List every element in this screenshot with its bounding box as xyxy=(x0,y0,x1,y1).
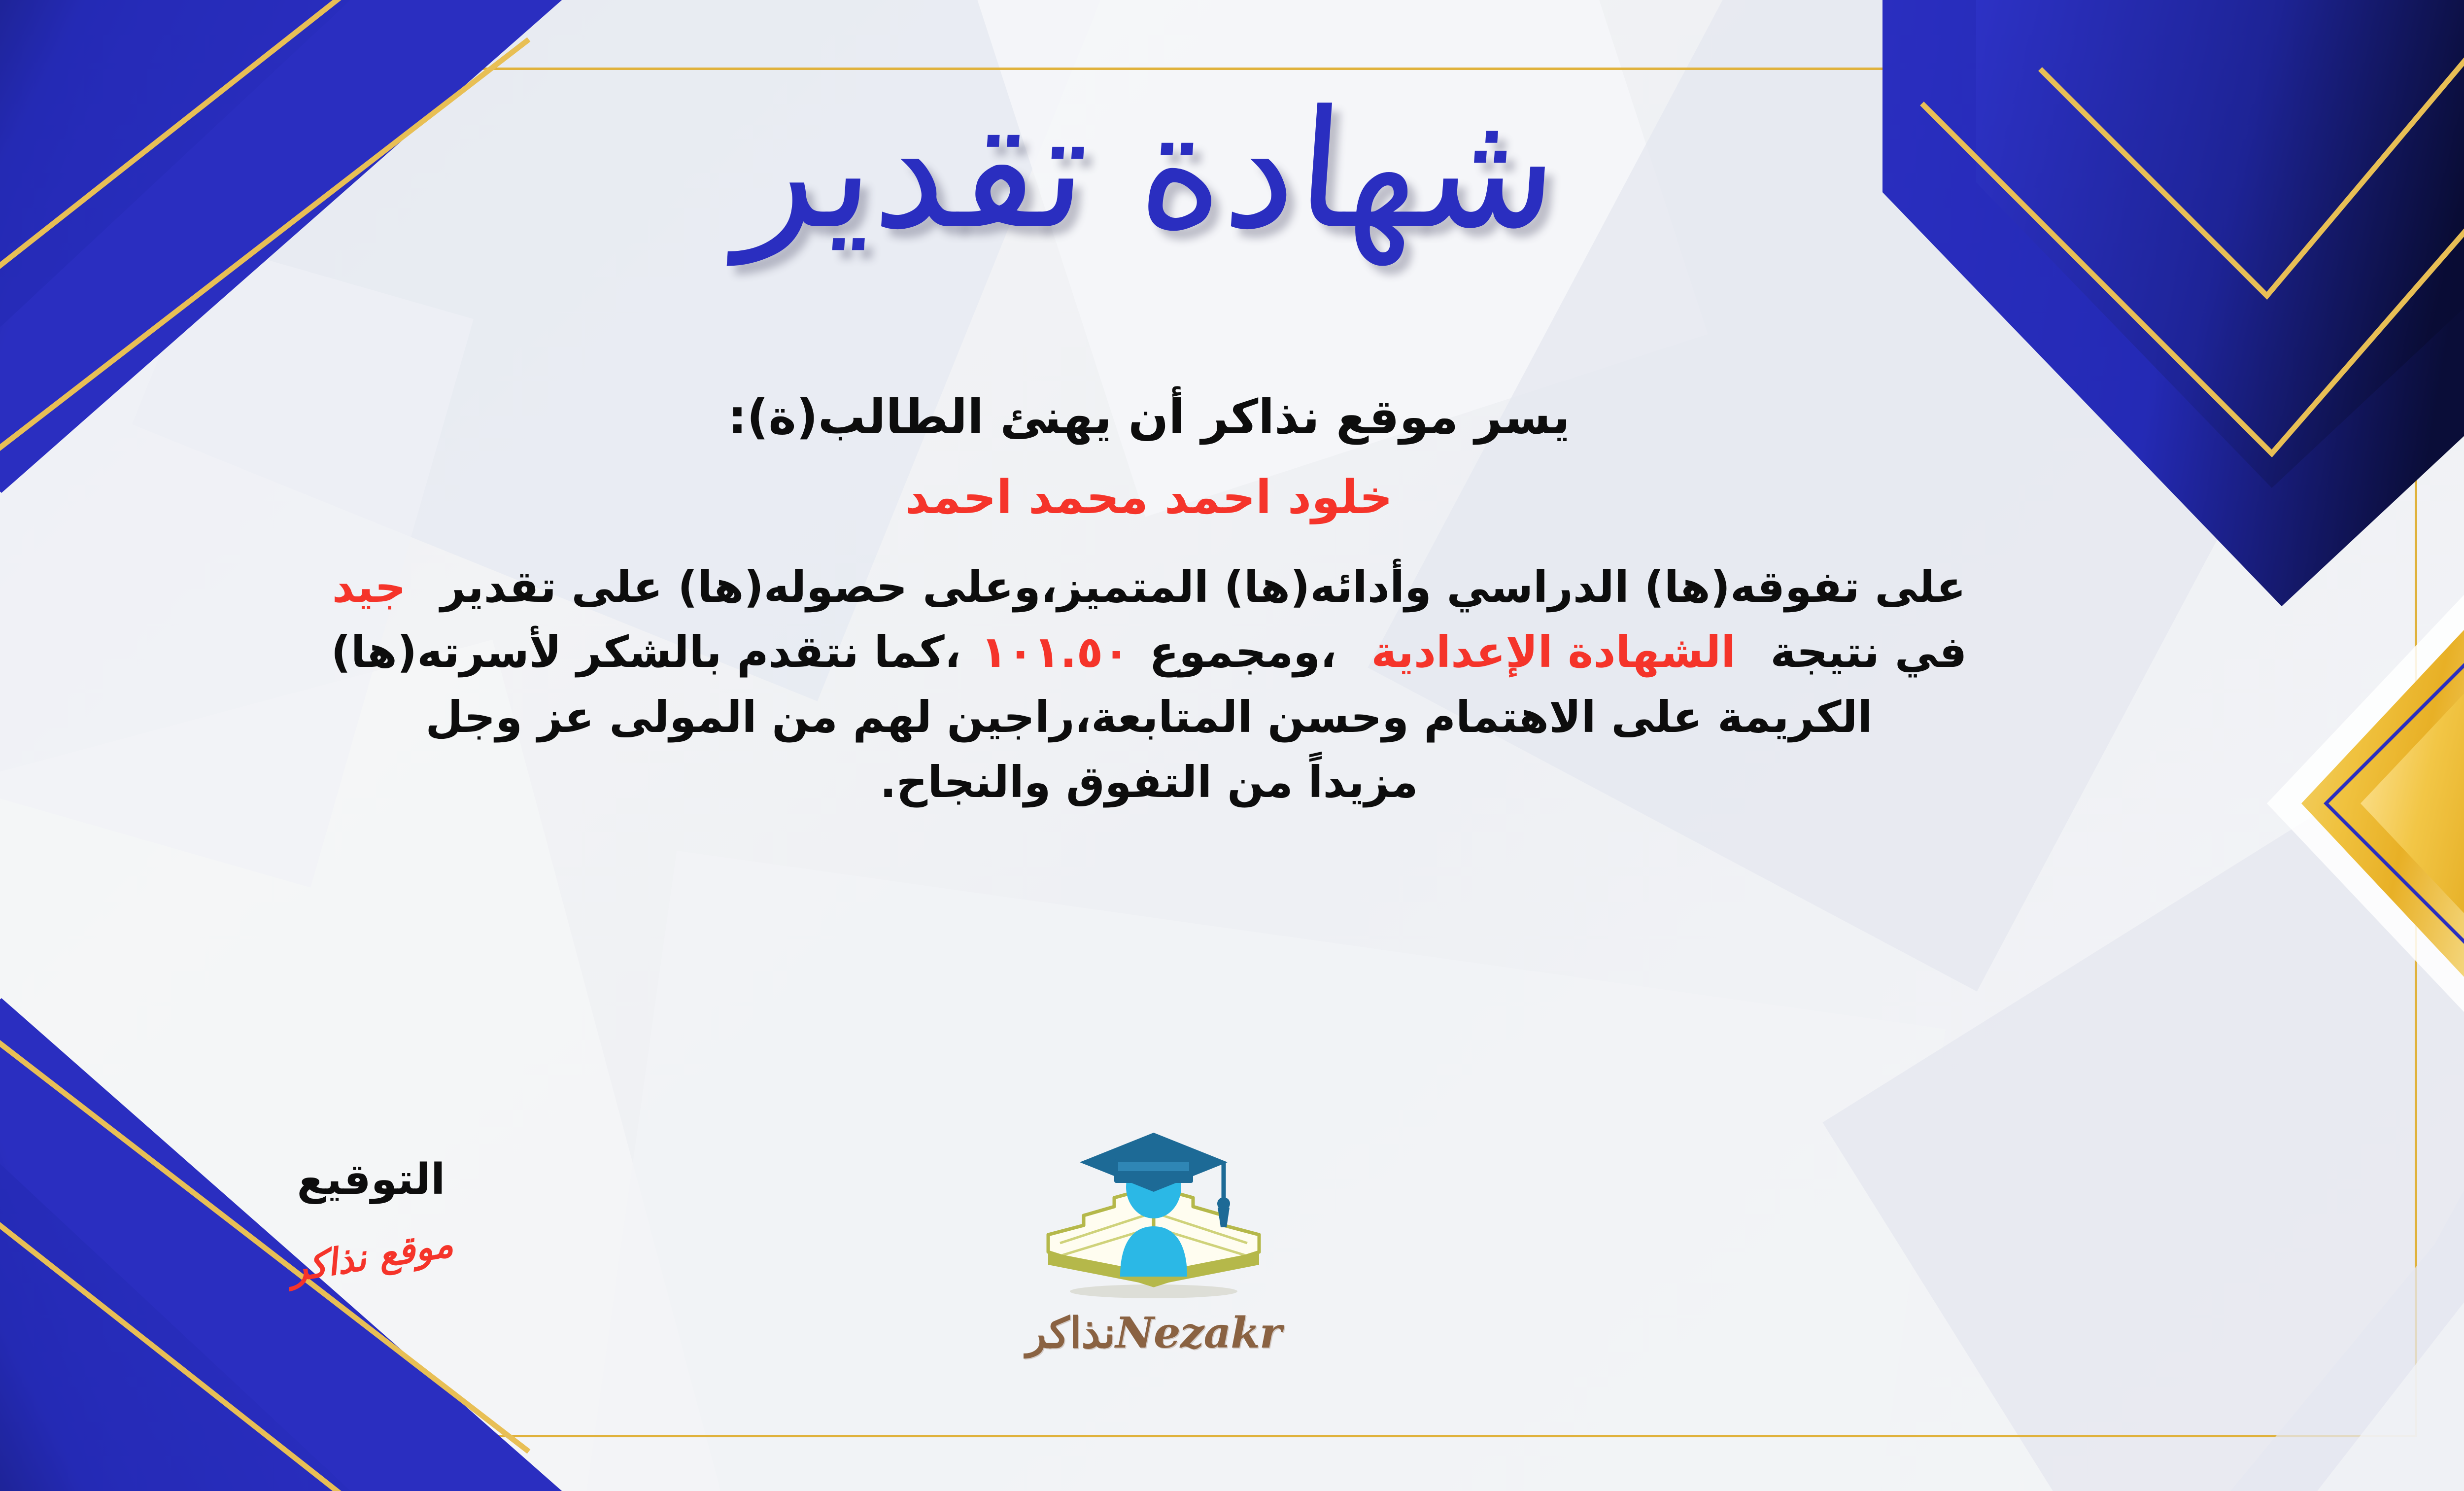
nezakr-logo: Nezakrنذاكر xyxy=(966,1129,1341,1405)
page-title: شهادة تقدير xyxy=(734,89,1564,251)
logo-latin-text: Nezakr xyxy=(1115,1308,1281,1358)
thanks-prefix: ،كما نتقدم بالشكر لأسرته(ها) xyxy=(331,626,961,677)
intro-line: يسر موقع نذاكر أن يهنئ الطالب(ة): xyxy=(0,384,2380,450)
student-name: خلود احمد محمد احمد xyxy=(0,470,2380,526)
signature-label: التوقيع xyxy=(208,1158,534,1201)
achievement-text: على تفوقه(ها) الدراسي وأدائه(ها) المتميز… xyxy=(441,561,1966,612)
logo-wordmark: Nezakrنذاكر xyxy=(1026,1308,1281,1358)
total-score: ١٠١.٥٠ xyxy=(981,626,1129,677)
signature-block: التوقيع موقع نذاكر xyxy=(208,1158,534,1278)
certificate-title-wrap: شهادة تقدير xyxy=(0,67,2464,274)
grade-value: جيد xyxy=(332,561,406,612)
closing-wish-line: مزيداً من التفوق والنجاح. xyxy=(0,750,2380,815)
certificate-body: يسر موقع نذاكر أن يهنئ الطالب(ة): خلود ا… xyxy=(0,384,2380,815)
achievement-line: على تفوقه(ها) الدراسي وأدائه(ها) المتميز… xyxy=(0,555,2380,620)
exam-result-line: في نتيجةالشهادة الإعدادية،ومجموع١٠١.٥٠،ك… xyxy=(0,620,2380,685)
certificate-page: شهادة تقدير يسر موقع نذاكر أن يهنئ الطال… xyxy=(0,0,2464,1491)
exam-prefix: في نتيجة xyxy=(1770,626,1967,677)
family-thanks-line: الكريمة على الاهتمام وحسن المتابعة،راجين… xyxy=(0,685,2380,750)
exam-name: الشهادة الإعدادية xyxy=(1371,626,1736,677)
graduate-book-icon xyxy=(1030,1129,1277,1311)
total-label: ،ومجموع xyxy=(1149,626,1336,677)
logo-arabic-text: نذاكر xyxy=(1026,1308,1115,1358)
